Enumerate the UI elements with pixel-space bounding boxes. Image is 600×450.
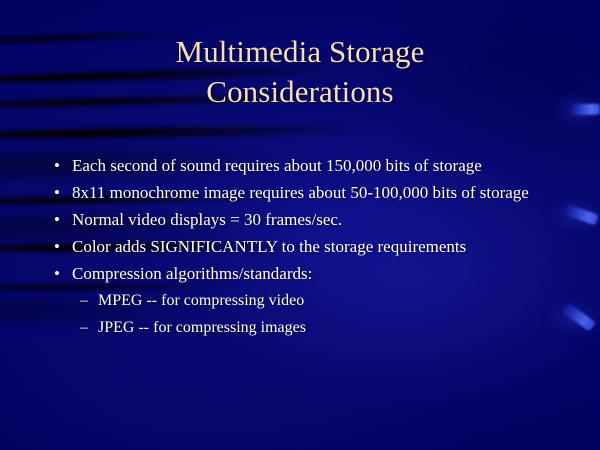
slide-title-line-1: Multimedia Storage: [60, 32, 540, 72]
slide-title: Multimedia Storage Considerations: [60, 32, 540, 112]
sub-bullet-text: MPEG -- for compressing video: [98, 287, 570, 314]
sub-bullet-item: – JPEG -- for compressing images: [50, 314, 570, 341]
sub-bullet-marker-icon: –: [80, 314, 96, 341]
bullet-item: • 8x11 monochrome image requires about 5…: [50, 179, 570, 206]
bullet-text: Normal video displays = 30 frames/sec.: [72, 206, 570, 233]
bullet-text: 8x11 monochrome image requires about 50-…: [72, 179, 570, 206]
bullet-marker-icon: •: [54, 179, 68, 206]
bullet-text: Compression algorithms/standards:: [72, 260, 570, 287]
sub-bullet-item: – MPEG -- for compressing video: [50, 287, 570, 314]
slide-content: Multimedia Storage Considerations • Each…: [0, 0, 600, 450]
bullet-item: • Compression algorithms/standards:: [50, 260, 570, 287]
bullet-marker-icon: •: [54, 206, 68, 233]
bullet-item: • Color adds SIGNIFICANTLY to the storag…: [50, 233, 570, 260]
slide-title-line-2: Considerations: [60, 72, 540, 112]
bullet-item: • Normal video displays = 30 frames/sec.: [50, 206, 570, 233]
bullet-marker-icon: •: [54, 233, 68, 260]
presentation-slide: Multimedia Storage Considerations • Each…: [0, 0, 600, 450]
bullet-text: Color adds SIGNIFICANTLY to the storage …: [72, 233, 570, 260]
bullet-text: Each second of sound requires about 150,…: [72, 152, 570, 179]
sub-bullet-marker-icon: –: [80, 287, 96, 314]
bullet-marker-icon: •: [54, 152, 68, 179]
bullet-item: • Each second of sound requires about 15…: [50, 152, 570, 179]
sub-bullet-text: JPEG -- for compressing images: [98, 314, 570, 341]
bullet-marker-icon: •: [54, 260, 68, 287]
slide-body: • Each second of sound requires about 15…: [50, 152, 570, 341]
